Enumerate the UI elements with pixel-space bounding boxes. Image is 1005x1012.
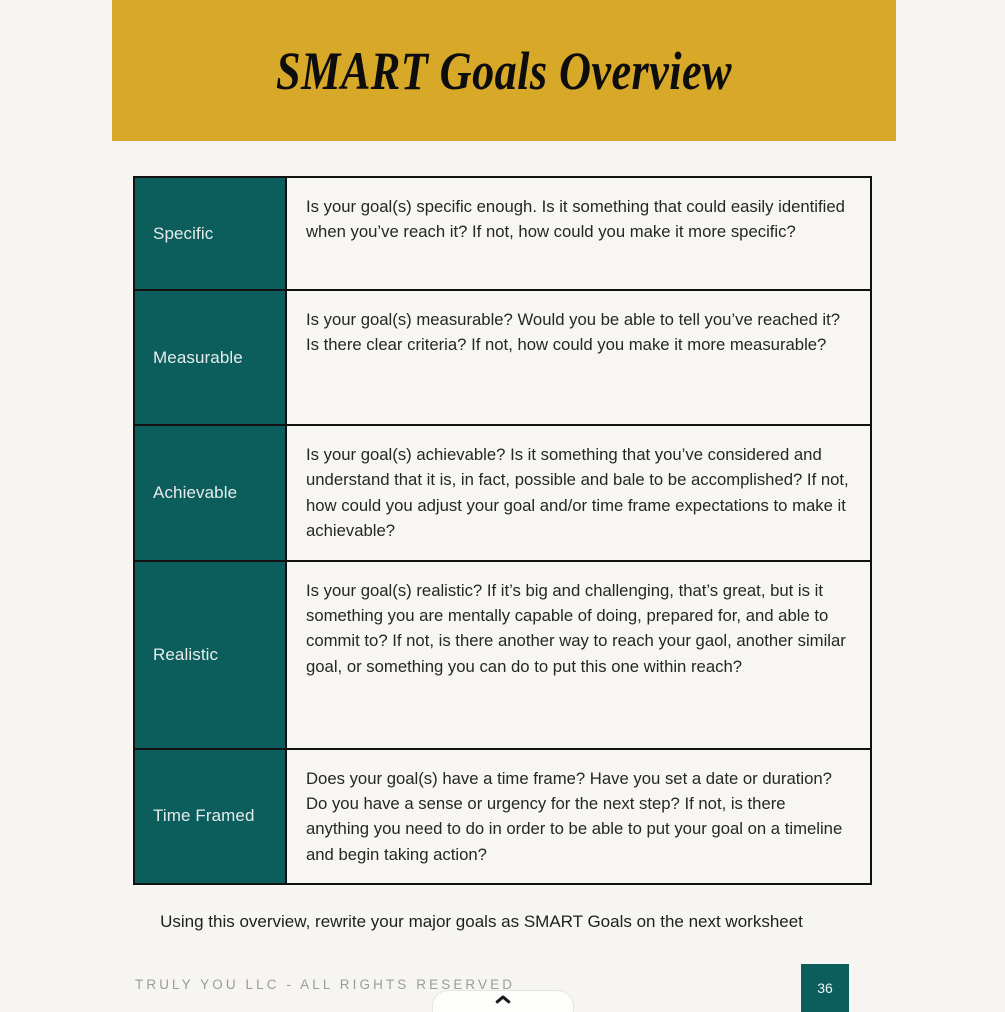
title-banner: SMART Goals Overview [112, 0, 896, 141]
worksheet-caption: Using this overview, rewrite your major … [133, 908, 830, 935]
table-body: Specific Is your goal(s) specific enough… [134, 177, 871, 884]
row-label-realistic: Realistic [134, 561, 286, 749]
table-row: Realistic Is your goal(s) realistic? If … [134, 561, 871, 749]
table-row: Specific Is your goal(s) specific enough… [134, 177, 871, 290]
table-row: Achievable Is your goal(s) achievable? I… [134, 425, 871, 561]
row-description-achievable: Is your goal(s) achievable? Is it someth… [286, 425, 871, 561]
page-number-badge: 36 [801, 964, 849, 1012]
row-description-measurable: Is your goal(s) measurable? Would you be… [286, 290, 871, 425]
row-label-time-framed: Time Framed [134, 749, 286, 885]
chevron-up-icon[interactable] [496, 995, 511, 1004]
table-row: Time Framed Does your goal(s) have a tim… [134, 749, 871, 885]
row-description-specific: Is your goal(s) specific enough. Is it s… [286, 177, 871, 290]
smart-goals-table: Specific Is your goal(s) specific enough… [133, 176, 872, 885]
row-description-realistic: Is your goal(s) realistic? If it’s big a… [286, 561, 871, 749]
table-row: Measurable Is your goal(s) measurable? W… [134, 290, 871, 425]
page-number-label: 36 [817, 980, 833, 996]
row-label-measurable: Measurable [134, 290, 286, 425]
row-description-time-framed: Does your goal(s) have a time frame? Hav… [286, 749, 871, 885]
row-label-specific: Specific [134, 177, 286, 290]
scroll-up-tab[interactable] [432, 990, 574, 1012]
page-title: SMART Goals Overview [276, 44, 732, 98]
row-label-achievable: Achievable [134, 425, 286, 561]
